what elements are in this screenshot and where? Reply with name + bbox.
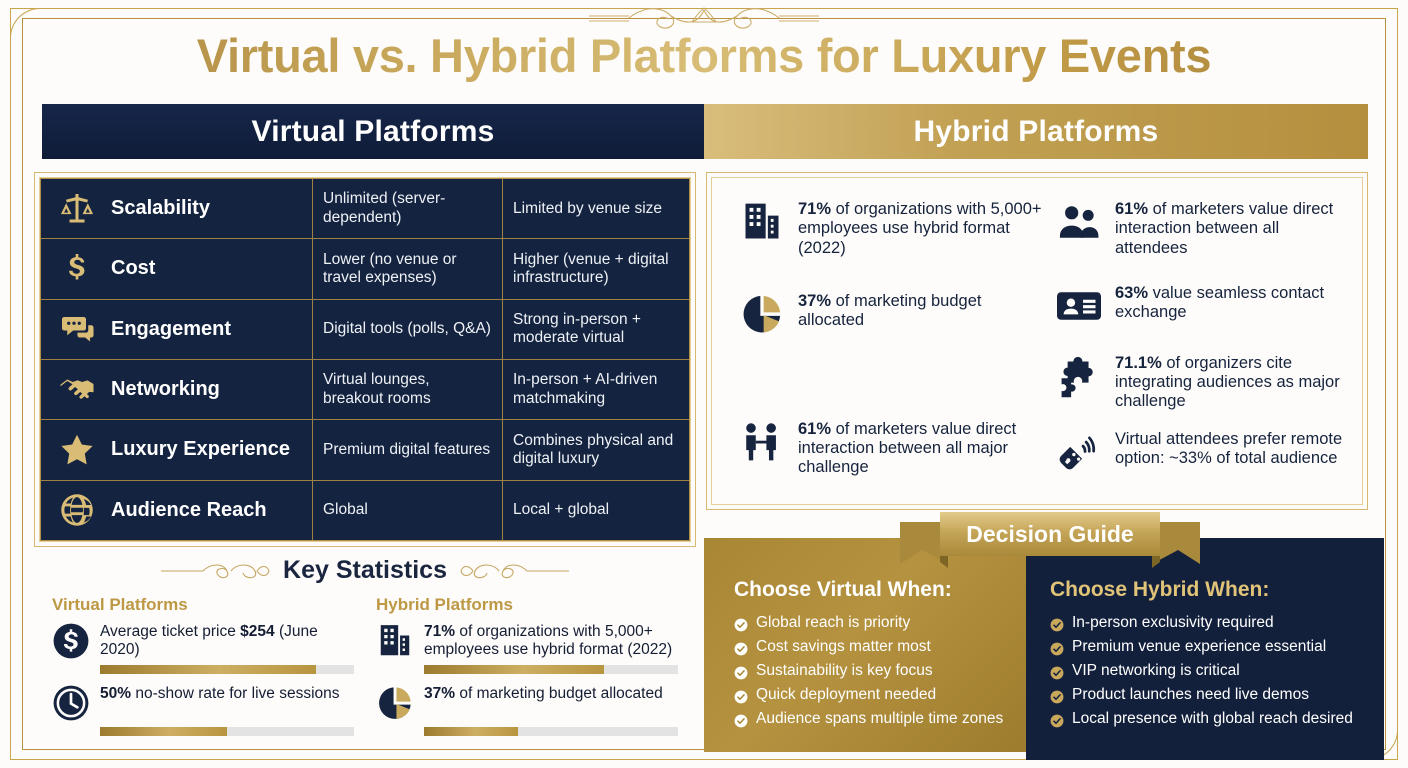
key-statistic-item: 50% no-show rate for live sessions <box>52 684 354 736</box>
comparison-row-label-cell: Cost <box>41 239 313 298</box>
hybrid-stat-item: 71.1% of organizers cite integrating aud… <box>1057 354 1346 412</box>
check-circle-icon <box>1050 640 1064 654</box>
comparison-hybrid-cell: Combines physical and digital luxury <box>503 420 689 479</box>
decision-guide-item-label: Audience spans multiple time zones <box>756 707 1003 731</box>
key-statistic-suffix: of marketing budget allocated <box>455 685 663 702</box>
comparison-hybrid-cell: Higher (venue + digital infrastructure) <box>503 239 689 298</box>
comparison-table: ScalabilityUnlimited (server-dependent)L… <box>40 178 690 541</box>
key-statistic-text: 71% of organizations with 5,000+ employe… <box>424 622 678 659</box>
handshake-icon <box>57 372 97 408</box>
key-statistics-title: Key Statistics <box>283 556 447 585</box>
table-row: CostLower (no venue or travel expenses)H… <box>41 239 689 299</box>
key-statistic-value: $254 <box>240 623 274 640</box>
key-statistics-virtual-heading: Virtual Platforms <box>52 595 354 615</box>
key-statistic-item: Average ticket price $254 (June 2020) <box>52 622 354 674</box>
comparison-virtual-cell: Unlimited (server-dependent) <box>313 179 503 238</box>
decision-guide-section: Choose Virtual When: Global reach is pri… <box>704 538 1384 760</box>
comparison-row-label-cell: Engagement <box>41 300 313 359</box>
comparison-hybrid-cell: In-person + AI-driven matchmaking <box>503 360 689 419</box>
comparison-virtual-cell: Premium digital features <box>313 420 503 479</box>
hybrid-stat-text: 61% of marketers value direct interactio… <box>1115 200 1346 258</box>
decision-guide-list-item: VIP networking is critical <box>1050 659 1384 683</box>
comparison-hybrid-cell: Strong in-person + moderate virtual <box>503 300 689 359</box>
hybrid-stats-column-right: 61% of marketers value direct interactio… <box>1043 200 1346 494</box>
key-statistic-progress-bar <box>100 665 354 674</box>
key-statistic-suffix: of organizations with 5,000+ employees u… <box>424 623 672 658</box>
key-statistic-item: 71% of organizations with 5,000+ employe… <box>376 622 678 674</box>
check-circle-icon <box>734 688 748 702</box>
key-statistic-text: Average ticket price $254 (June 2020) <box>100 622 354 659</box>
hybrid-stat-text: 63% value seamless contact exchange <box>1115 284 1346 323</box>
decision-guide-hybrid-heading: Choose Hybrid When: <box>1050 578 1384 602</box>
decision-guide-item-label: Premium venue experience essential <box>1072 635 1326 659</box>
comparison-row-label: Scalability <box>111 197 210 220</box>
hybrid-stat-description: of marketers value direct interaction be… <box>798 420 1016 477</box>
hybrid-stat-text: 37% of marketing budget allocated <box>798 292 1043 331</box>
key-statistics-hybrid-column: Hybrid Platforms 71% of organizations wi… <box>376 595 678 746</box>
key-statistics-section: Key Statistics Virtual Platforms Average… <box>34 556 696 752</box>
comparison-panel: ScalabilityUnlimited (server-dependent)L… <box>34 172 696 547</box>
decision-guide-list-item: In-person exclusivity required <box>1050 611 1384 635</box>
decision-guide-ribbon-label: Decision Guide <box>940 512 1160 556</box>
table-row: Luxury ExperiencePremium digital feature… <box>41 420 689 480</box>
hybrid-stat-text: 71% of organizations with 5,000+ employe… <box>798 200 1043 258</box>
key-statistics-hybrid-heading: Hybrid Platforms <box>376 595 678 615</box>
check-circle-icon <box>734 664 748 678</box>
hybrid-stats-panel: 71% of organizations with 5,000+ employe… <box>706 172 1368 510</box>
comparison-row-label: Cost <box>111 257 155 280</box>
key-statistic-progress-bar <box>100 727 354 736</box>
decision-guide-item-label: Sustainability is key focus <box>756 659 933 683</box>
building-icon <box>376 622 414 660</box>
pie-chart-icon <box>376 684 414 722</box>
hybrid-stat-item: 61% of marketers value direct interactio… <box>740 420 1043 478</box>
key-statistic-value: 71% <box>424 623 455 640</box>
decision-guide-list-item: Premium venue experience essential <box>1050 635 1384 659</box>
page-title: Virtual vs. Hybrid Platforms for Luxury … <box>0 28 1408 83</box>
hybrid-stat-item: 61% of marketers value direct interactio… <box>1057 200 1346 258</box>
column-header-hybrid: Hybrid Platforms <box>704 104 1368 159</box>
check-circle-icon <box>1050 688 1064 702</box>
comparison-hybrid-cell: Local + global <box>503 481 689 540</box>
column-header-virtual-label: Virtual Platforms <box>252 115 495 149</box>
decision-guide-list-item: Quick deployment needed <box>734 683 1026 707</box>
comparison-row-label: Engagement <box>111 318 231 341</box>
comparison-virtual-cell: Virtual lounges, breakout rooms <box>313 360 503 419</box>
table-row: EngagementDigital tools (polls, Q&A)Stro… <box>41 300 689 360</box>
hybrid-stat-value: 63% <box>1115 284 1148 302</box>
comparison-virtual-cell: Global <box>313 481 503 540</box>
check-circle-icon <box>734 712 748 726</box>
decision-guide-item-label: Local presence with global reach desired <box>1072 707 1353 731</box>
column-header-hybrid-label: Hybrid Platforms <box>914 115 1159 149</box>
divider-flourish-right-icon <box>459 561 569 581</box>
comparison-hybrid-cell: Limited by venue size <box>503 179 689 238</box>
decision-guide-list-item: Global reach is priority <box>734 611 1026 635</box>
globe-icon <box>57 492 97 528</box>
key-statistic-item: 37% of marketing budget allocated <box>376 684 678 736</box>
key-statistic-progress-bar <box>424 665 678 674</box>
decision-guide-item-label: Cost savings matter most <box>756 635 931 659</box>
hybrid-stat-item: 37% of marketing budget allocated <box>740 292 1043 336</box>
key-statistic-suffix: no-show rate for live sessions <box>131 685 339 702</box>
table-row: NetworkingVirtual lounges, breakout room… <box>41 360 689 420</box>
decision-guide-list-item: Sustainability is key focus <box>734 659 1026 683</box>
hybrid-stat-text: 61% of marketers value direct interactio… <box>798 420 1043 478</box>
hybrid-stat-text: Virtual attendees prefer remote option: … <box>1115 430 1346 469</box>
dollar-icon <box>57 251 97 287</box>
key-statistics-virtual-column: Virtual Platforms Average ticket price $… <box>52 595 354 746</box>
key-statistic-prefix: Average ticket price <box>100 623 240 640</box>
decision-guide-item-label: Quick deployment needed <box>756 683 936 707</box>
key-statistic-value: 50% <box>100 685 131 702</box>
comparison-row-label: Audience Reach <box>111 499 267 522</box>
hybrid-stat-value: 61% <box>798 420 831 438</box>
decision-guide-item-label: Product launches need live demos <box>1072 683 1309 707</box>
pie-chart-icon <box>740 292 784 336</box>
hybrid-stat-value: 37% <box>798 292 831 310</box>
check-circle-icon <box>1050 712 1064 726</box>
column-header-virtual: Virtual Platforms <box>42 104 704 159</box>
clock-icon <box>52 684 90 722</box>
comparison-row-label: Luxury Experience <box>111 438 290 461</box>
id-card-icon <box>1057 284 1101 328</box>
decision-guide-list-item: Local presence with global reach desired <box>1050 707 1384 731</box>
comparison-virtual-cell: Digital tools (polls, Q&A) <box>313 300 503 359</box>
building-icon <box>740 200 784 244</box>
infographic-root: Virtual vs. Hybrid Platforms for Luxury … <box>0 0 1408 768</box>
remote-control-icon <box>1057 430 1101 474</box>
table-row: Audience ReachGlobalLocal + global <box>41 481 689 540</box>
check-circle-icon <box>1050 616 1064 630</box>
decision-guide-virtual-heading: Choose Virtual When: <box>734 578 1026 602</box>
decision-guide-list-item: Cost savings matter most <box>734 635 1026 659</box>
hybrid-stat-value: 61% <box>1115 200 1148 218</box>
puzzle-icon <box>1057 354 1101 398</box>
star-icon <box>57 432 97 468</box>
people-group-icon <box>1057 200 1101 244</box>
comparison-row-label-cell: Audience Reach <box>41 481 313 540</box>
hybrid-stat-description: of organizations with 5,000+ employees u… <box>798 200 1042 257</box>
hybrid-stat-value: 71% <box>798 200 831 218</box>
comparison-row-label: Networking <box>111 378 220 401</box>
decision-guide-ribbon: Decision Guide <box>900 512 1200 574</box>
key-statistic-value: 37% <box>424 685 455 702</box>
two-people-icon <box>740 420 784 464</box>
hybrid-stat-item: 63% value seamless contact exchange <box>1057 284 1346 328</box>
hybrid-stat-item: 71% of organizations with 5,000+ employe… <box>740 200 1043 258</box>
key-statistic-text: 37% of marketing budget allocated <box>424 684 663 703</box>
check-circle-icon <box>734 640 748 654</box>
decision-guide-list-item: Product launches need live demos <box>1050 683 1384 707</box>
scales-icon <box>57 191 97 227</box>
check-circle-icon <box>1050 664 1064 678</box>
hybrid-stats-column-left: 71% of organizations with 5,000+ employe… <box>740 200 1043 494</box>
table-row: ScalabilityUnlimited (server-dependent)L… <box>41 179 689 239</box>
hybrid-stat-text: 71.1% of organizers cite integrating aud… <box>1115 354 1346 412</box>
decision-guide-item-label: In-person exclusivity required <box>1072 611 1274 635</box>
key-statistic-text: 50% no-show rate for live sessions <box>100 684 340 703</box>
comparison-row-label-cell: Luxury Experience <box>41 420 313 479</box>
comparison-virtual-cell: Lower (no venue or travel expenses) <box>313 239 503 298</box>
decision-guide-list-item: Audience spans multiple time zones <box>734 707 1026 731</box>
hybrid-stat-item: Virtual attendees prefer remote option: … <box>1057 430 1346 474</box>
hybrid-stat-description: of marketers value direct interaction be… <box>1115 200 1333 257</box>
divider-flourish-left-icon <box>161 561 271 581</box>
hybrid-stat-value: 71.1% <box>1115 354 1162 372</box>
comparison-row-label-cell: Networking <box>41 360 313 419</box>
comparison-row-label-cell: Scalability <box>41 179 313 238</box>
hybrid-stat-description: Virtual attendees prefer remote option: … <box>1115 430 1342 467</box>
dollar-circle-icon <box>52 622 90 660</box>
decision-guide-item-label: Global reach is priority <box>756 611 910 635</box>
key-statistic-progress-bar <box>424 727 678 736</box>
decision-guide-item-label: VIP networking is critical <box>1072 659 1240 683</box>
check-circle-icon <box>734 616 748 630</box>
chat-icon <box>57 311 97 347</box>
